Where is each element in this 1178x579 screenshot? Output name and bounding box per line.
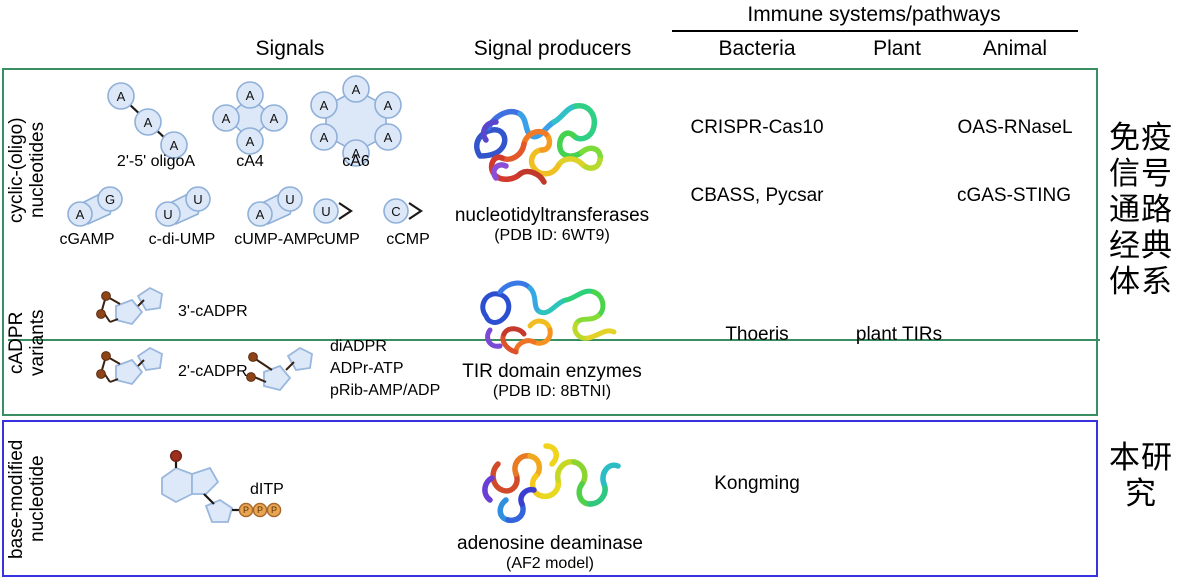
annotation-this-study-chinese: 本研究	[1104, 440, 1178, 512]
annotation-classic-chinese: 免疫信号通路经典体系	[1104, 120, 1178, 300]
svg-text:C: C	[391, 204, 400, 219]
svg-text:A: A	[246, 88, 255, 103]
row-label-cadpr-variants: cADPR variants	[6, 272, 52, 414]
producer-source-adenosine-deaminase: (AF2 model)	[430, 552, 670, 575]
molecule-cA4-icon: A A A A	[205, 84, 295, 152]
svg-text:A: A	[384, 130, 393, 145]
producer-source-nucleotidyltransferases: (PDB ID: 6WT9)	[440, 224, 664, 247]
svg-text:P: P	[243, 505, 249, 515]
molecule-c-di-UMP-icon: U U	[148, 186, 228, 228]
immune-entry-bacteria-cbass-pycsar: CBASS, Pycsar	[672, 184, 842, 207]
svg-text:A: A	[144, 115, 153, 130]
svg-text:A: A	[246, 134, 255, 149]
svg-text:A: A	[117, 89, 126, 104]
header-column-bacteria: Bacteria	[672, 36, 842, 62]
svg-text:A: A	[76, 207, 85, 222]
molecule-3prime-cADPR-icon	[86, 284, 174, 346]
signal-label-cUMP: cUMP	[298, 228, 378, 251]
svg-text:U: U	[285, 192, 294, 207]
svg-text:A: A	[222, 111, 231, 126]
protein-structure-tir-domain-enzymes	[470, 272, 640, 362]
svg-text:A: A	[270, 111, 279, 126]
header-column-plant: Plant	[842, 36, 952, 62]
header-column-signals: Signals	[155, 36, 425, 62]
immune-entry-plant-tirs: plant TIRs	[842, 323, 956, 346]
molecule-cUMP-AMP-icon: A U	[240, 186, 320, 228]
svg-text:A: A	[256, 207, 265, 222]
signal-label-cA4: cA4	[205, 150, 295, 173]
producer-source-tir-domain-enzymes: (PDB ID: 8BTNI)	[440, 380, 664, 403]
svg-text:A: A	[384, 98, 393, 113]
figure-root: Immune systems/pathways Signals Signal p…	[0, 0, 1178, 579]
molecule-adpr-open-icon	[238, 344, 324, 406]
molecule-cUMP-icon: U	[312, 196, 362, 228]
svg-text:P: P	[257, 505, 263, 515]
svg-text:U: U	[321, 204, 330, 219]
immune-entry-bacteria-thoeris: Thoeris	[672, 323, 842, 346]
row-label-base-modified-nucleotide: base-modified nucleotide	[6, 424, 52, 574]
svg-text:U: U	[163, 207, 172, 222]
signal-label-cCMP: cCMP	[368, 228, 448, 251]
immune-entry-bacteria-crispr-cas10: CRISPR-Cas10	[672, 116, 842, 139]
header-immune-group: Immune systems/pathways	[668, 2, 1080, 28]
molecule-cA6-icon: A A A A A A	[300, 78, 412, 156]
molecule-oligoA-icon: A A A	[96, 82, 216, 152]
immune-entry-bacteria-kongming: Kongming	[672, 472, 842, 495]
svg-text:A: A	[352, 82, 361, 97]
molecule-cGAMP-icon: A G	[60, 186, 140, 228]
svg-text:G: G	[105, 192, 115, 207]
header-column-signal-producers: Signal producers	[440, 36, 665, 62]
header-immune-rule	[672, 30, 1078, 32]
immune-entry-animal-oas-rnasel: OAS-RNaseL	[952, 116, 1078, 139]
protein-structure-nucleotidyltransferases	[462, 92, 642, 200]
signal-label-cA6: cA6	[311, 150, 401, 173]
molecule-cCMP-icon: C	[382, 196, 432, 228]
protein-structure-adenosine-deaminase	[474, 434, 640, 530]
svg-text:A: A	[320, 98, 329, 113]
header-column-animal: Animal	[952, 36, 1078, 62]
molecule-2prime-cADPR-icon	[86, 344, 174, 406]
svg-text:P: P	[271, 505, 277, 515]
svg-text:U: U	[193, 192, 202, 207]
svg-text:A: A	[320, 130, 329, 145]
signal-label-3prime-cADPR: 3'-cADPR	[178, 300, 318, 323]
immune-entry-animal-cgas-sting: cGAS-STING	[946, 184, 1082, 207]
signal-label-dITP: dITP	[250, 478, 370, 501]
